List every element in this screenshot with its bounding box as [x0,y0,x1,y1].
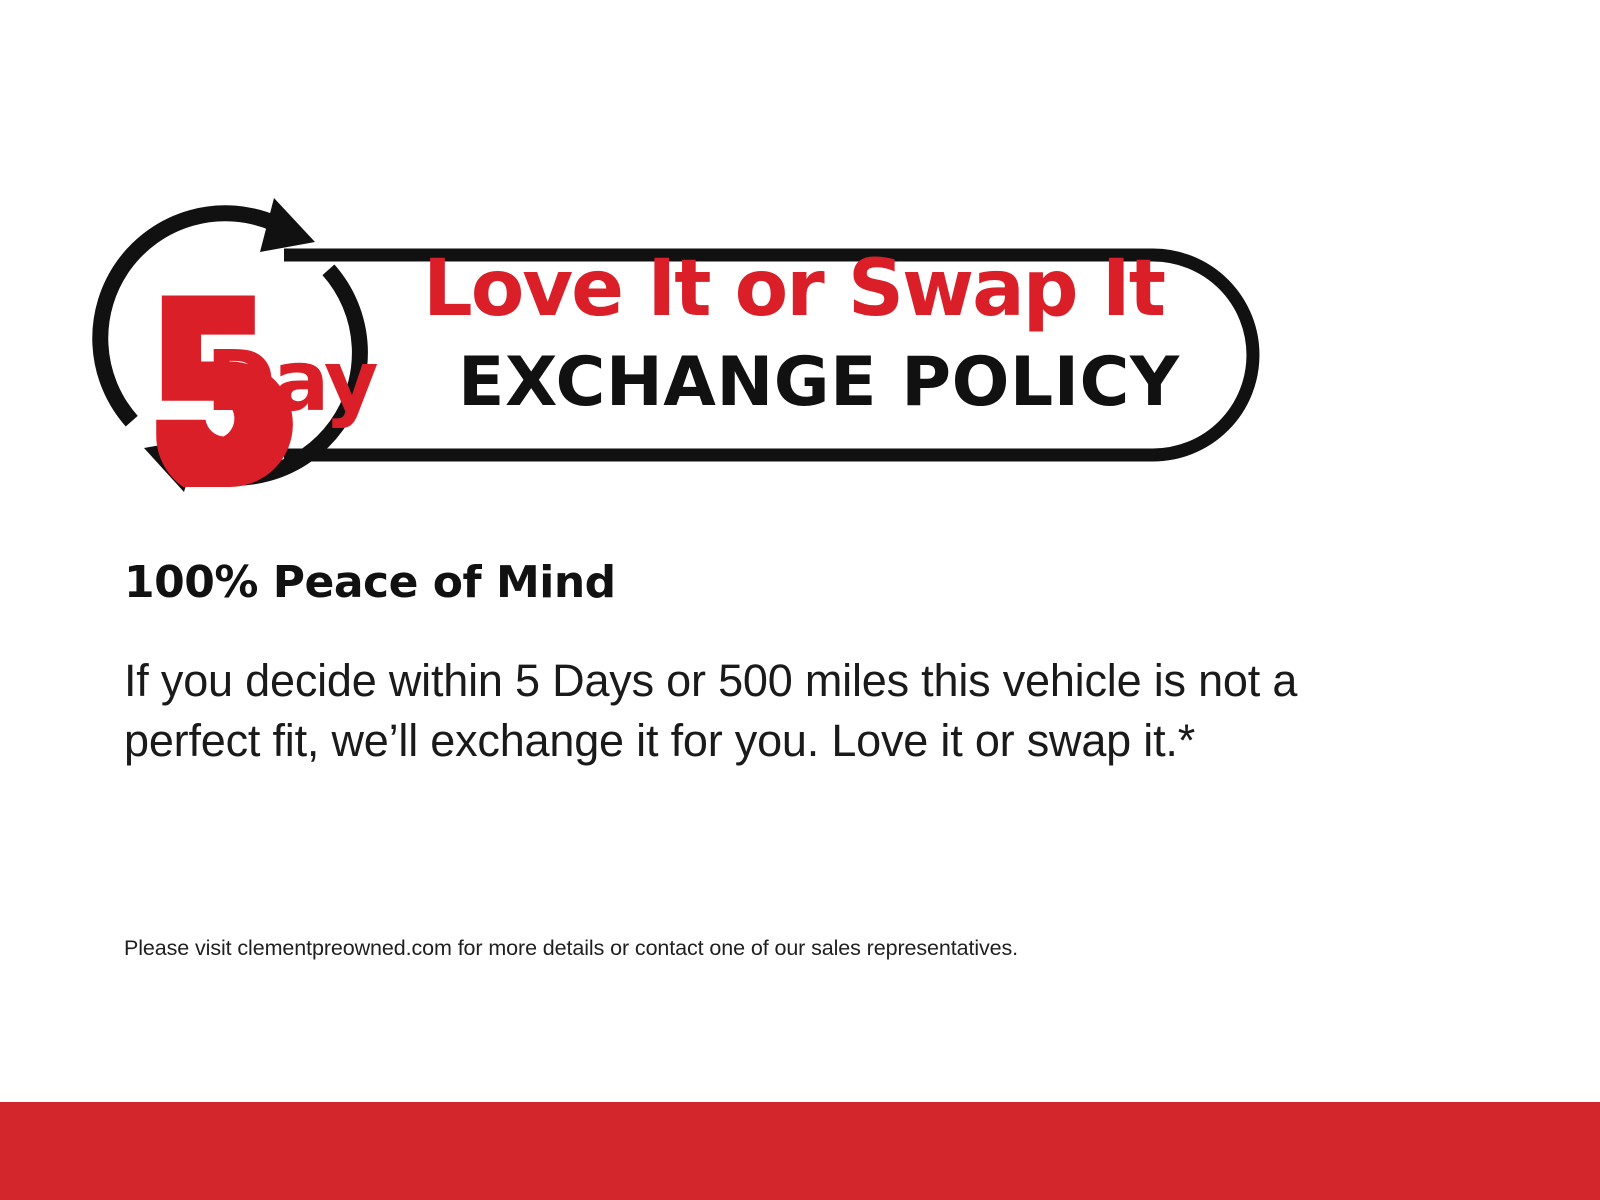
bottom-accent-bar [0,1102,1600,1200]
page-headline: 100% Peace of Mind [124,560,1424,606]
day-label: Day [206,332,378,430]
badge-subhead-black: EXCHANGE POLICY [458,343,1180,422]
fine-print-disclaimer: Please visit clementpreowned.com for mor… [124,935,1018,963]
exchange-policy-badge: Day Love It or Swap It EXCHANGE POLICY [88,190,1278,500]
badge-headline-red: Love It or Swap It [423,244,1165,334]
copy-block: 100% Peace of Mind If you decide within … [124,560,1424,771]
body-paragraph: If you decide within 5 Days or 500 miles… [124,651,1314,771]
policy-slide: Day Love It or Swap It EXCHANGE POLICY 1… [0,0,1600,1200]
badge-graphic: Day Love It or Swap It EXCHANGE POLICY [88,190,1278,500]
